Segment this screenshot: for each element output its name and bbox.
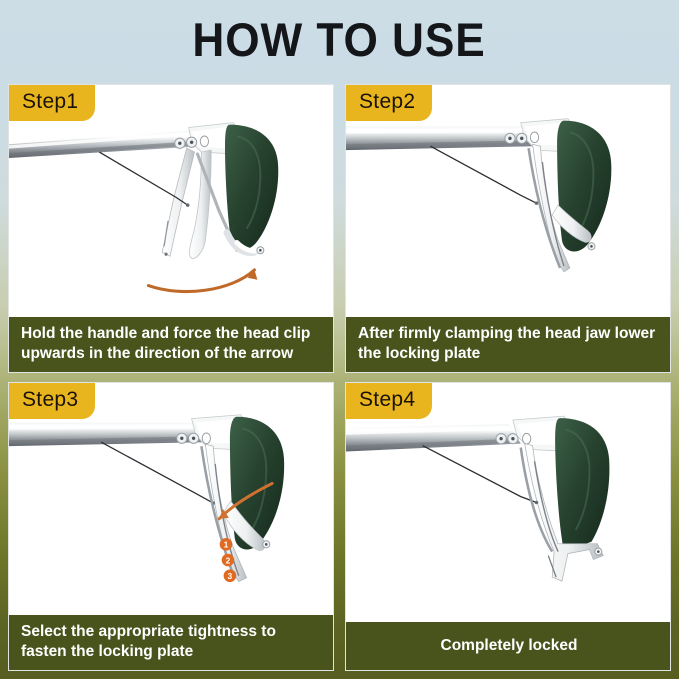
svg-text:3: 3 <box>228 571 233 581</box>
tool-shaft <box>9 130 201 157</box>
step-caption-3: Select the appropriate tightness to fast… <box>9 615 333 670</box>
locking-plate <box>162 148 194 256</box>
tightness-marker-2: 2 <box>222 554 235 567</box>
step-badge-2: Step2 <box>346 85 432 121</box>
steps-grid: Step1 <box>8 84 671 671</box>
page-title: HOW TO USE <box>193 12 486 67</box>
step-panel-2: Step2 <box>345 84 671 373</box>
tightness-marker-1: 1 <box>220 538 233 551</box>
step-badge-4: Step4 <box>346 383 432 419</box>
step-caption-4: Completely locked <box>346 622 670 670</box>
tightness-markers: 1 2 3 <box>220 538 236 582</box>
step-caption-1: Hold the handle and force the head clip … <box>9 317 333 372</box>
direction-arrow-icon <box>148 270 257 292</box>
step-caption-2: After firmly clamping the head jaw lower… <box>346 317 670 372</box>
step-panel-3: Step3 <box>8 382 334 671</box>
tool-shaft <box>346 424 521 451</box>
step-badge-3: Step3 <box>9 383 95 419</box>
tool-shaft <box>9 423 203 447</box>
tool-grip <box>555 418 609 552</box>
tool-grip <box>225 125 278 251</box>
step-badge-1: Step1 <box>9 85 95 121</box>
tightness-marker-3: 3 <box>224 569 237 582</box>
step-panel-4: Step4 <box>345 382 671 671</box>
svg-text:1: 1 <box>224 540 229 550</box>
tool-trigger <box>189 150 211 258</box>
step-panel-1: Step1 <box>8 84 334 373</box>
header: HOW TO USE <box>0 0 679 78</box>
svg-text:2: 2 <box>226 555 231 565</box>
